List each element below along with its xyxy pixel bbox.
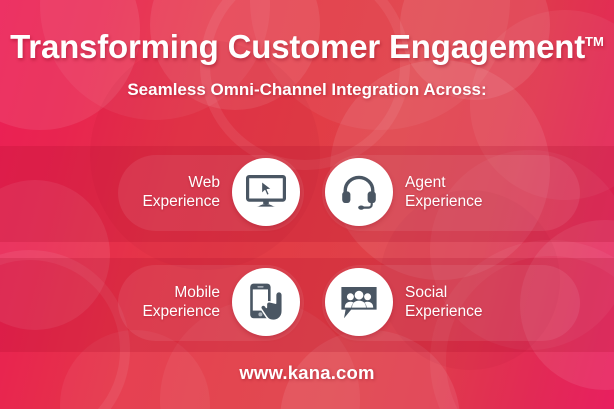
banner-footer: www.kana.com <box>0 362 614 384</box>
channel-item-web[interactable]: Web Experience <box>120 158 300 226</box>
channel-label-social-line1: Social <box>405 283 525 302</box>
page-title-text: Transforming Customer Engagement <box>10 28 585 65</box>
channel-label-agent-line2: Experience <box>405 192 525 211</box>
channel-label-web-line1: Web <box>120 173 220 192</box>
banner-header: Transforming Customer EngagementTM Seaml… <box>0 0 614 100</box>
monitor-cursor-icon <box>246 175 286 209</box>
channel-item-mobile[interactable]: Mobile Experience <box>120 268 300 336</box>
channel-label-social-line2: Experience <box>405 302 525 321</box>
page-title: Transforming Customer EngagementTM <box>0 0 614 66</box>
channel-label-agent: Agent Experience <box>405 173 525 211</box>
page-subtitle: Seamless Omni-Channel Integration Across… <box>0 66 614 100</box>
channel-icon-circle-agent[interactable] <box>325 158 393 226</box>
trademark-symbol: TM <box>585 34 604 49</box>
speech-bubble-people-icon <box>339 284 379 320</box>
channel-label-mobile-line1: Mobile <box>120 283 220 302</box>
channel-label-agent-line1: Agent <box>405 173 525 192</box>
channel-label-web-line2: Experience <box>120 192 220 211</box>
channel-label-social: Social Experience <box>405 283 525 321</box>
channel-item-social[interactable]: Social Experience <box>325 268 525 336</box>
marketing-banner: Transforming Customer EngagementTM Seaml… <box>0 0 614 409</box>
channel-icon-circle-mobile[interactable] <box>232 268 300 336</box>
channel-label-mobile: Mobile Experience <box>120 283 220 321</box>
channel-label-web: Web Experience <box>120 173 220 211</box>
channel-item-agent[interactable]: Agent Experience <box>325 158 525 226</box>
smartphone-hand-icon <box>247 282 285 322</box>
website-url[interactable]: www.kana.com <box>239 362 374 383</box>
channel-icon-circle-web[interactable] <box>232 158 300 226</box>
channel-icon-circle-social[interactable] <box>325 268 393 336</box>
channel-label-mobile-line2: Experience <box>120 302 220 321</box>
headset-icon <box>340 173 378 211</box>
